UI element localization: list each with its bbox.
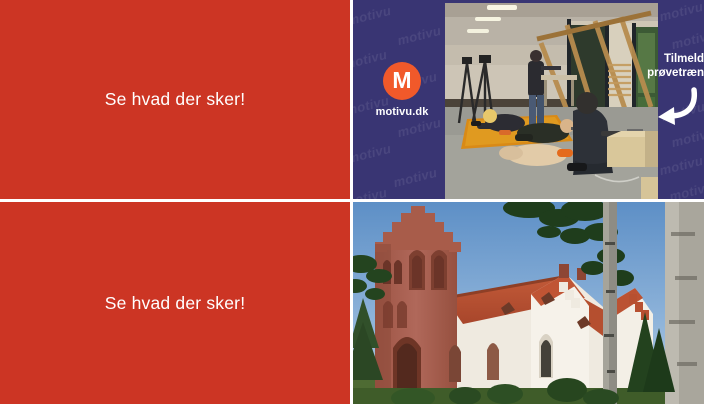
watermark-text: motivu — [668, 179, 704, 199]
banner-cta-block[interactable]: Tilmeld prøvetræn — [648, 52, 704, 126]
watermark-text: motivu — [396, 23, 443, 48]
grid-cell-bottom-left[interactable]: Se hvad der sker! — [0, 202, 350, 404]
promo-card-bottom-text: Se hvad der sker! — [105, 293, 246, 314]
church-photo — [353, 202, 704, 404]
motivu-banner-ad[interactable]: motivu motivu motivu motivu motivu motiv… — [353, 0, 704, 199]
motivu-m-logo-icon: M — [383, 62, 421, 100]
banner-training-hall-photo — [445, 3, 658, 199]
training-hall-illustration — [445, 3, 658, 199]
promo-card-top-text: Se hvad der sker! — [105, 89, 246, 110]
watermark-text: motivu — [396, 115, 443, 140]
thumbnail-grid: Se hvad der sker! motivu motivu motivu m… — [0, 0, 704, 404]
grid-cell-top-left[interactable]: Se hvad der sker! — [0, 0, 350, 199]
watermark-text: motivu — [353, 141, 393, 166]
motivu-logo-block[interactable]: M motivu.dk — [359, 62, 445, 118]
danish-church-illustration — [353, 202, 704, 404]
grid-cell-bottom-right[interactable] — [353, 202, 704, 404]
logo-glyph: M — [383, 62, 421, 100]
watermark-text: motivu — [392, 165, 439, 190]
promo-card-bottom[interactable]: Se hvad der sker! — [0, 202, 350, 404]
grid-cell-top-right[interactable]: motivu motivu motivu motivu motivu motiv… — [353, 0, 704, 199]
watermark-text: motivu — [658, 0, 704, 24]
watermark-text: motivu — [670, 125, 704, 150]
curved-arrow-down-left-icon — [650, 86, 700, 126]
watermark-text: motivu — [353, 185, 389, 199]
cta-line-2: prøvetræn — [630, 66, 704, 80]
promo-card-top[interactable]: Se hvad der sker! — [0, 0, 350, 199]
watermark-text: motivu — [658, 153, 704, 178]
watermark-text: motivu — [670, 27, 704, 52]
motivu-logo-caption: motivu.dk — [359, 106, 445, 118]
cta-line-1: Tilmeld — [630, 52, 704, 66]
watermark-text: motivu — [353, 3, 393, 28]
